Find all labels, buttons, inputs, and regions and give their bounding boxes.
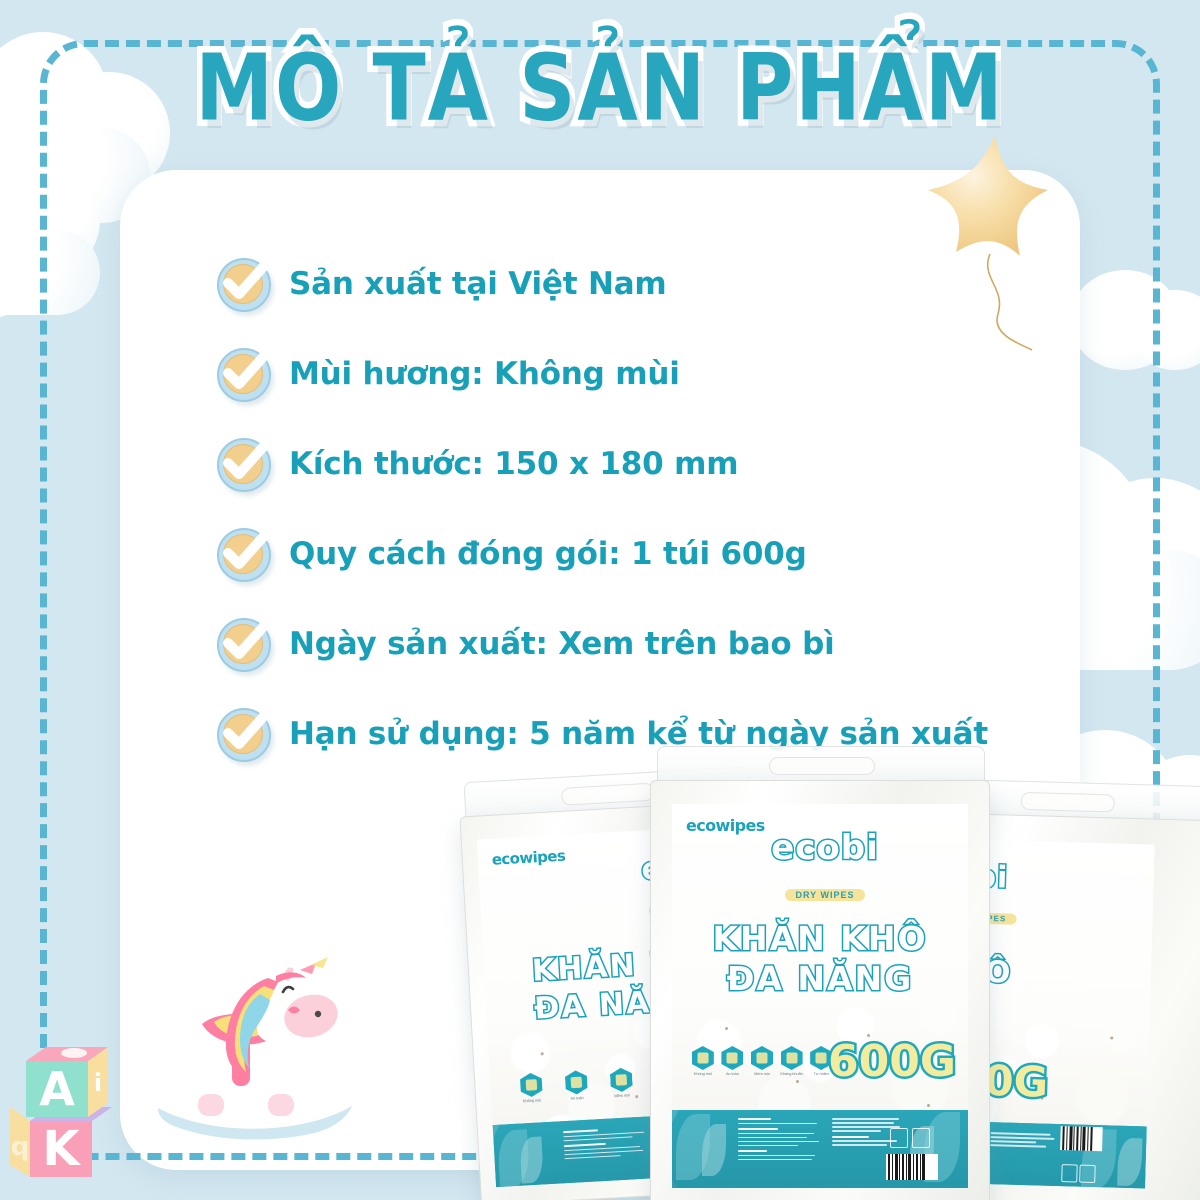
list-item-label: Kích thước: 150 x 180 mm: [289, 446, 738, 482]
feature-badge: An toàn: [718, 1046, 748, 1076]
product-packages: ecowipes ecob DRY WIPES KHĂN K ĐA NĂ Khô…: [470, 760, 1200, 1200]
list-item-label: Quy cách đóng gói: 1 túi 600g: [289, 536, 807, 572]
list-item: Quy cách đóng gói: 1 túi 600g: [215, 528, 1045, 580]
package-weight-center: 600G: [828, 1036, 956, 1087]
recycle-mark: [1061, 1164, 1077, 1182]
alphabet-blocks-icon: K q A i: [8, 1025, 143, 1195]
fsc-mark: [912, 1128, 930, 1148]
rocking-unicorn-icon: [140, 930, 370, 1145]
svg-text:K: K: [42, 1121, 81, 1177]
list-item-label: Sản xuất tại Việt Nam: [289, 266, 667, 302]
check-circle-icon: [215, 615, 273, 673]
check-circle-icon: [215, 345, 273, 403]
list-item: Kích thước: 150 x 180 mm: [215, 438, 1045, 490]
svg-text:A: A: [39, 1062, 75, 1116]
list-item-label: Mùi hương: Không mùi: [289, 356, 680, 392]
package-center: ecowipes ecobi DRY WIPES KHĂN KHÔ ĐA NĂN…: [650, 780, 990, 1200]
check-circle-icon: [215, 525, 273, 583]
list-item-label: Ngày sản xuất: Xem trên bao bì: [289, 626, 835, 662]
barcode: [886, 1154, 938, 1180]
recycle-mark: [890, 1128, 908, 1148]
info-band-center: [672, 1110, 968, 1188]
feature-badge: Mềm mịn: [598, 1067, 645, 1099]
check-circle-icon: [215, 255, 273, 313]
check-circle-icon: [215, 705, 273, 763]
product-title-center-2: ĐA NĂNG: [672, 962, 968, 996]
feature-badge: Kháng khuẩn: [777, 1046, 807, 1076]
svg-text:q: q: [11, 1132, 30, 1162]
label-center: ecowipes ecobi DRY WIPES KHĂN KHÔ ĐA NĂN…: [672, 804, 968, 1188]
barcode: [1060, 1126, 1103, 1151]
svg-text:i: i: [94, 1069, 102, 1097]
poster-canvas: MÔ TẢ SẢN PHẨM Sản xuất tại Việt Nam Mùi…: [0, 0, 1200, 1200]
page-title: MÔ TẢ SẢN PHẨM: [195, 36, 1004, 142]
fsc-mark: [1079, 1165, 1095, 1183]
ecobi-brand-center: ecobi: [750, 828, 900, 868]
feature-badge: Không mùi: [508, 1072, 555, 1104]
dry-wipes-ribbon-center: DRY WIPES: [785, 889, 864, 901]
ecobi-logo-center: ecobi DRY WIPES: [750, 828, 900, 907]
page-title-area: MÔ TẢ SẢN PHẨM: [0, 44, 1200, 134]
check-circle-icon: [215, 435, 273, 493]
badge-row-center: Không mùi An toàn Mềm mịn Kháng khuẩn Tự…: [672, 1046, 852, 1076]
feature-badge: An toàn: [553, 1069, 600, 1101]
feature-badge: Mềm mịn: [747, 1046, 777, 1076]
feature-badge: Không mùi: [688, 1046, 718, 1076]
product-title-center-1: KHĂN KHÔ: [672, 922, 968, 956]
list-item: Ngày sản xuất: Xem trên bao bì: [215, 618, 1045, 670]
star-balloon-icon: [920, 128, 1070, 358]
